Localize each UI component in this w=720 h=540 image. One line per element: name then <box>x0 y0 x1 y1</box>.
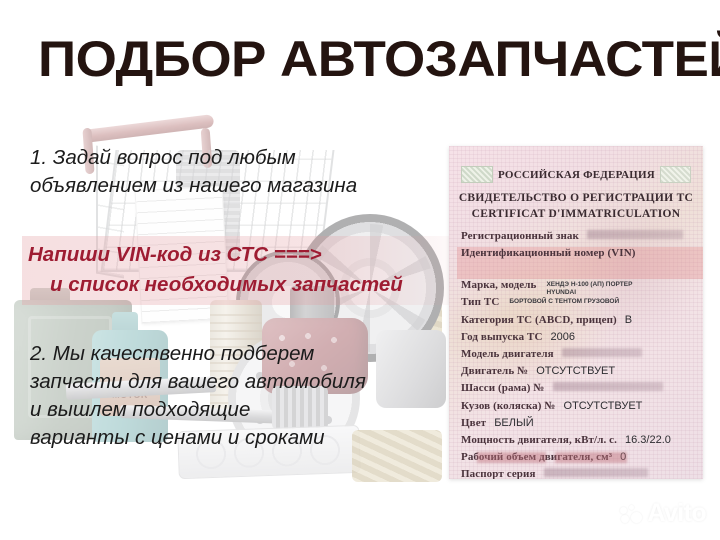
certificate-country-label: РОССИЙСКАЯ ФЕДЕРАЦИЯ <box>493 169 660 181</box>
certificate-field-label: Модель двигателя <box>461 348 554 360</box>
step-2-text: 2. Мы качественно подберем запчасти для … <box>30 340 440 452</box>
vehicle-registration-certificate: РОССИЙСКАЯ ФЕДЕРАЦИЯ СВИДЕТЕЛЬСТВО О РЕГ… <box>449 146 703 479</box>
certificate-field-row: Паспорт серия <box>461 468 699 479</box>
vin-callout-line-2: и список необходимых запчастей <box>28 270 448 300</box>
certificate-seal-left-icon <box>461 166 493 183</box>
vin-callout: Напиши VIN-код из СТС ===> и список необ… <box>22 236 454 305</box>
certificate-vin-redaction-row <box>457 265 703 279</box>
avito-dots-icon <box>620 505 642 523</box>
avito-wordmark: Avito <box>647 501 706 526</box>
certificate-field-label: Кузов (коляска) № <box>461 400 556 412</box>
certificate-field-row: Кузов (коляска) №ОТСУТСТВУЕТ <box>461 400 699 417</box>
certificate-field-value: B <box>625 314 632 326</box>
certificate-field-row: Мощность двигателя, кВт/л. с.16.3/22.0 <box>461 434 699 451</box>
certificate-field-row: Шасси (рама) № <box>461 382 699 399</box>
certificate-field-redaction <box>562 348 642 357</box>
certificate-seal-right-icon <box>660 166 691 183</box>
certificate-title-ru: СВИДЕТЕЛЬСТВО О РЕГИСТРАЦИИ ТС <box>449 192 703 204</box>
certificate-field-label: Мощность двигателя, кВт/л. с. <box>461 434 617 446</box>
page-title: ПОДБОР АВТОЗАПЧАСТЕЙ <box>38 30 720 88</box>
certificate-fields-list: Регистрационный знакИдентификационный но… <box>461 230 699 479</box>
vin-callout-line-1: Напиши VIN-код из СТС ===> <box>28 240 448 270</box>
certificate-field-value: БЕЛЫЙ <box>494 417 533 429</box>
certificate-bottom-redaction <box>477 452 627 463</box>
certificate-field-label: Цвет <box>461 417 486 429</box>
certificate-field-row: Идентификационный номер (VIN) <box>457 247 703 265</box>
certificate-field-value: БОРТОВОЙ С ТЕНТОМ ГРУЗОВОЙ <box>509 298 619 306</box>
certificate-field-row: Год выпуска ТС2006 <box>461 331 699 348</box>
shopping-cart-handle-image <box>84 114 215 143</box>
certificate-field-label: Год выпуска ТС <box>461 331 543 343</box>
certificate-field-row: Тип ТСБОРТОВОЙ С ТЕНТОМ ГРУЗОВОЙ <box>461 296 699 313</box>
oil-bottle-neck-image <box>112 312 138 334</box>
certificate-field-row: Модель двигателя <box>461 348 699 365</box>
certificate-field-redaction <box>553 382 663 391</box>
certificate-title-fr: CERTIFICAT D'IMMATRICULATION <box>449 208 703 220</box>
certificate-field-value: ОТСУТСТВУЕТ <box>536 365 615 377</box>
certificate-field-value: 2006 <box>551 331 575 343</box>
certificate-field-label: Паспорт серия <box>461 468 536 479</box>
certificate-field-label: Тип ТС <box>461 296 499 308</box>
certificate-field-redaction <box>544 468 648 477</box>
certificate-field-value: ОТСУТСТВУЕТ <box>564 400 643 412</box>
certificate-country-row: РОССИЙСКАЯ ФЕДЕРАЦИЯ <box>461 166 691 183</box>
certificate-field-redaction <box>587 230 683 239</box>
certificate-field-label: Регистрационный знак <box>461 230 579 242</box>
certificate-field-value: ХЕНДЭ Н-100 (АП) ПОРТЕР HYUNDAI <box>546 281 632 296</box>
certificate-field-row: Регистрационный знак <box>461 230 699 247</box>
certificate-field-label: Двигатель № <box>461 365 528 377</box>
certificate-field-row: ЦветБЕЛЫЙ <box>461 417 699 434</box>
step-1-text: 1. Задай вопрос под любым объявлением из… <box>30 144 430 200</box>
poster-canvas: MOTOR ПОДБОР АВТОЗАПЧАСТЕЙ 1. Задай вопр… <box>0 0 720 540</box>
certificate-field-row: Двигатель №ОТСУТСТВУЕТ <box>461 365 699 382</box>
certificate-field-label: Идентификационный номер (VIN) <box>461 247 636 259</box>
certificate-field-row: Марка, модельХЕНДЭ Н-100 (АП) ПОРТЕР HYU… <box>461 279 699 296</box>
certificate-field-row: Категория ТС (ABCD, прицеп)B <box>461 314 699 331</box>
avito-watermark: Avito <box>620 501 706 526</box>
certificate-field-label: Марка, модель <box>461 279 536 291</box>
certificate-field-label: Категория ТС (ABCD, прицеп) <box>461 314 617 326</box>
certificate-field-value: 16.3/22.0 <box>625 434 671 446</box>
certificate-field-label: Шасси (рама) № <box>461 382 545 394</box>
